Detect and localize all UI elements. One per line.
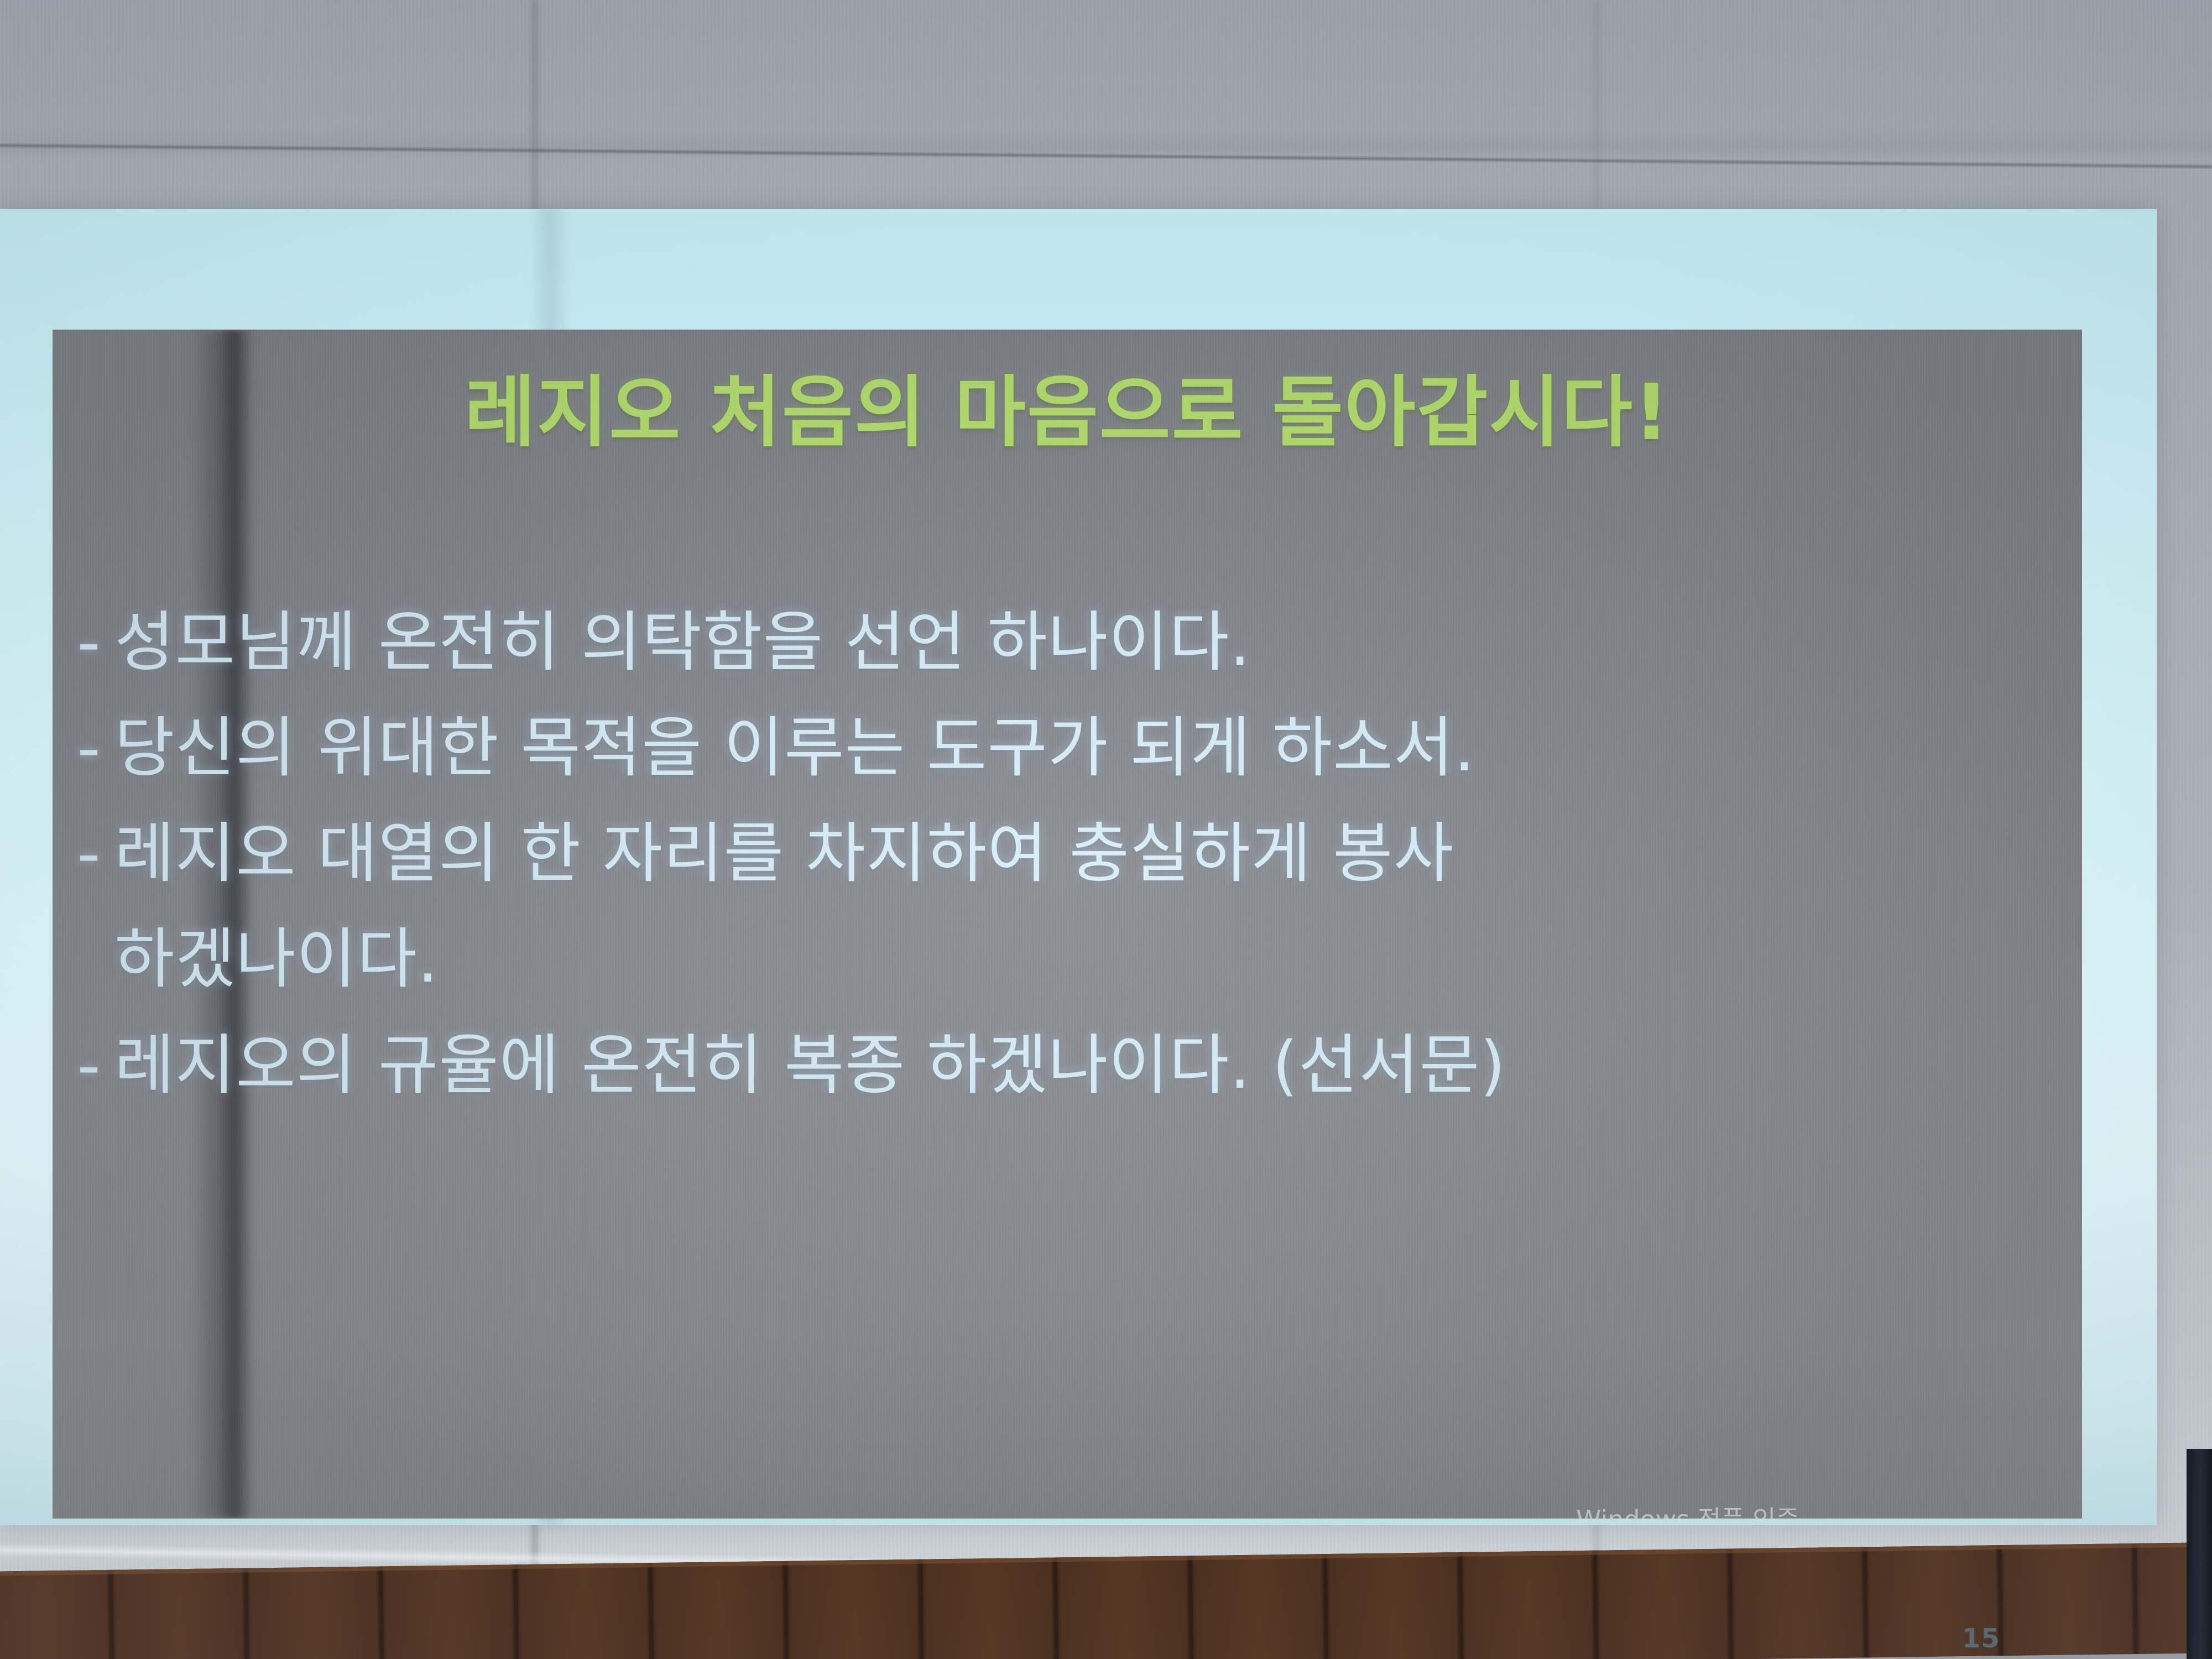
bullet-dash-icon: - — [64, 801, 114, 906]
windows-activation-watermark: Windows 정품 인증 [설정]으로 이동하여 Windows를 정품 인증… — [1576, 1505, 2074, 1519]
slide-bullet-text: 레지오 대열의 한 자리를 차지하여 충실하게 봉사 — [114, 801, 2065, 906]
bullet-dash-icon: - — [64, 1013, 114, 1118]
slide-body: - 성모님께 온전히 의탁함을 선언 하나이다. - 당신의 위대한 목적을 이… — [64, 589, 2065, 1118]
slide-bullet-line-continuation: - 하겠나이다. — [64, 906, 2065, 1012]
slide-bullet-text: 레지오의 규율에 온전히 복종 하겠나이다. (선서문) — [114, 1013, 2065, 1118]
door-frame — [2187, 1449, 2212, 1659]
projected-slide: 레지오 처음의 마음으로 돌아갑시다! - 성모님께 온전히 의탁함을 선언 하… — [53, 330, 2082, 1519]
slide-bullet-text: 당신의 위대한 목적을 이루는 도구가 되게 하소서. — [114, 695, 2065, 801]
photo-scene: 레지오 처음의 마음으로 돌아갑시다! - 성모님께 온전히 의탁함을 선언 하… — [0, 0, 2212, 1659]
bullet-dash-icon: - — [64, 695, 114, 801]
watermark-title: Windows 정품 인증 — [1576, 1505, 2074, 1519]
wall-seam-upper — [0, 143, 2212, 169]
slide-bullet-line: - 성모님께 온전히 의탁함을 선언 하나이다. — [64, 589, 2065, 695]
slide-bullet-line: - 레지오의 규율에 온전히 복종 하겠나이다. (선서문) — [64, 1013, 2065, 1118]
page-number: 15 — [1962, 1623, 2000, 1654]
slide-bullet-line: - 당신의 위대한 목적을 이루는 도구가 되게 하소서. — [64, 695, 2065, 801]
bullet-dash-icon: - — [64, 589, 114, 695]
projection-screen: 레지오 처음의 마음으로 돌아갑시다! - 성모님께 온전히 의탁함을 선언 하… — [0, 209, 2157, 1525]
slide-bullet-text: 하겠나이다. — [114, 906, 2065, 1012]
slide-title: 레지오 처음의 마음으로 돌아갑시다! — [53, 368, 2082, 457]
slide-bullet-line: - 레지오 대열의 한 자리를 차지하여 충실하게 봉사 — [64, 801, 2065, 906]
slide-bullet-text: 성모님께 온전히 의탁함을 선언 하나이다. — [114, 589, 2065, 695]
